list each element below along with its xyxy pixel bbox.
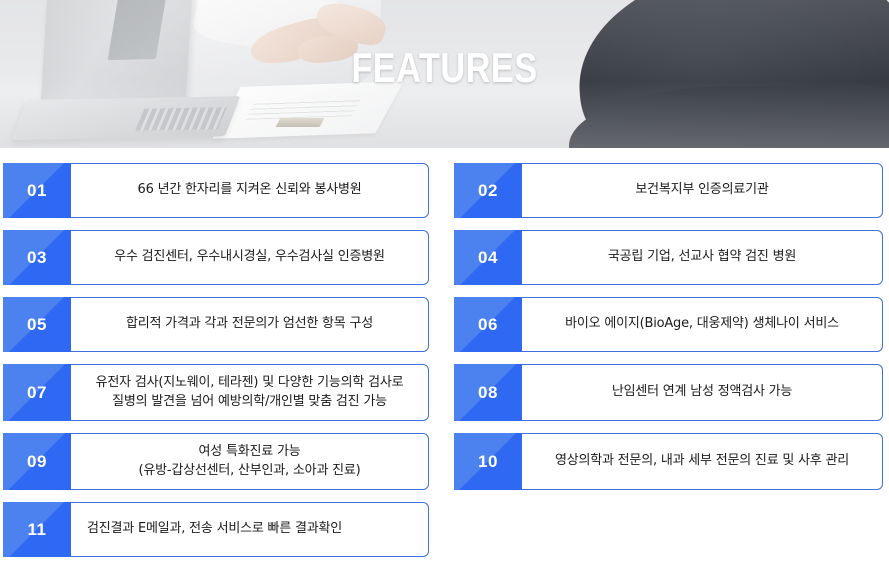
feature-text: 66 년간 한자리를 지켜온 신뢰와 봉사병원 — [138, 181, 362, 199]
feature-number: 11 — [28, 520, 47, 540]
feature-text: 보건복지부 인증의료기관 — [635, 181, 768, 199]
feature-item-06[interactable]: 06 바이오 에이지(BioAge, 대웅제약) 생체나이 서비스 — [454, 297, 883, 352]
feature-card: 바이오 에이지(BioAge, 대웅제약) 생체나이 서비스 — [522, 297, 883, 352]
feature-number-badge: 01 — [3, 163, 71, 218]
feature-text: 여성 특화진료 가능 (유방-갑상선센터, 산부인과, 소아과 진료) — [138, 443, 360, 480]
feature-number: 04 — [478, 248, 498, 268]
feature-text: 합리적 가격과 각과 전문의가 엄선한 항목 구성 — [126, 315, 373, 333]
feature-number: 06 — [478, 315, 498, 335]
feature-text: 우수 검진센터, 우수내시경실, 우수검사실 인증병원 — [114, 248, 385, 266]
feature-number: 01 — [27, 181, 47, 201]
features-banner: FEATURES — [0, 0, 889, 148]
feature-card: 합리적 가격과 각과 전문의가 엄선한 항목 구성 — [71, 297, 429, 352]
feature-number: 07 — [27, 383, 47, 403]
feature-number: 02 — [478, 181, 498, 201]
feature-item-02[interactable]: 02 보건복지부 인증의료기관 — [454, 163, 883, 218]
feature-text: 영상의학과 전문의, 내과 세부 전문의 진료 및 사후 관리 — [555, 452, 849, 470]
feature-card: 검진결과 E메일과, 전송 서비스로 빠른 결과확인 — [71, 502, 429, 557]
feature-item-05[interactable]: 05 합리적 가격과 각과 전문의가 엄선한 항목 구성 — [3, 297, 429, 352]
feature-number: 09 — [27, 452, 47, 472]
feature-item-08[interactable]: 08 난임센터 연계 남성 정액검사 가능 — [454, 364, 883, 421]
feature-number-badge: 03 — [3, 230, 71, 285]
feature-number-badge: 11 — [3, 502, 71, 557]
feature-number-badge: 04 — [454, 230, 522, 285]
feature-item-10[interactable]: 10 영상의학과 전문의, 내과 세부 전문의 진료 및 사후 관리 — [454, 433, 883, 490]
feature-item-11[interactable]: 11 검진결과 E메일과, 전송 서비스로 빠른 결과확인 — [3, 502, 429, 557]
feature-item-04[interactable]: 04 국공립 기업, 선교사 협약 검진 병원 — [454, 230, 883, 285]
feature-card: 영상의학과 전문의, 내과 세부 전문의 진료 및 사후 관리 — [522, 433, 883, 490]
feature-number: 05 — [27, 315, 47, 335]
feature-number-badge: 05 — [3, 297, 71, 352]
feature-card: 여성 특화진료 가능 (유방-갑상선센터, 산부인과, 소아과 진료) — [71, 433, 429, 490]
feature-text: 국공립 기업, 선교사 협약 검진 병원 — [608, 248, 796, 266]
feature-number: 10 — [478, 452, 498, 472]
feature-number-badge: 10 — [454, 433, 522, 490]
feature-card: 국공립 기업, 선교사 협약 검진 병원 — [522, 230, 883, 285]
feature-item-09[interactable]: 09 여성 특화진료 가능 (유방-갑상선센터, 산부인과, 소아과 진료) — [3, 433, 429, 490]
feature-number-badge: 08 — [454, 364, 522, 421]
feature-number-badge: 09 — [3, 433, 71, 490]
feature-number-badge: 06 — [454, 297, 522, 352]
feature-text: 바이오 에이지(BioAge, 대웅제약) 생체나이 서비스 — [565, 315, 839, 333]
features-column-left: 01 66 년간 한자리를 지켜온 신뢰와 봉사병원 03 우수 검진센터, 우… — [3, 163, 429, 569]
feature-number: 08 — [478, 383, 498, 403]
feature-card: 66 년간 한자리를 지켜온 신뢰와 봉사병원 — [71, 163, 429, 218]
feature-item-07[interactable]: 07 유전자 검사(지노웨이, 테라젠) 및 다양한 기능의학 검사로 질병의 … — [3, 364, 429, 421]
feature-item-01[interactable]: 01 66 년간 한자리를 지켜온 신뢰와 봉사병원 — [3, 163, 429, 218]
feature-number: 03 — [27, 248, 47, 268]
feature-text: 검진결과 E메일과, 전송 서비스로 빠른 결과확인 — [87, 520, 342, 538]
feature-number-badge: 07 — [3, 364, 71, 421]
feature-item-03[interactable]: 03 우수 검진센터, 우수내시경실, 우수검사실 인증병원 — [3, 230, 429, 285]
features-grid: 01 66 년간 한자리를 지켜온 신뢰와 봉사병원 03 우수 검진센터, 우… — [0, 148, 889, 163]
feature-number-badge: 02 — [454, 163, 522, 218]
feature-card: 유전자 검사(지노웨이, 테라젠) 및 다양한 기능의학 검사로 질병의 발견을… — [71, 364, 429, 421]
features-column-right: 02 보건복지부 인증의료기관 04 국공립 기업, 선교사 협약 검진 병원 … — [454, 163, 883, 502]
feature-card: 우수 검진센터, 우수내시경실, 우수검사실 인증병원 — [71, 230, 429, 285]
feature-text: 유전자 검사(지노웨이, 테라젠) 및 다양한 기능의학 검사로 질병의 발견을… — [96, 374, 404, 411]
feature-text: 난임센터 연계 남성 정액검사 가능 — [612, 383, 792, 401]
feature-card: 난임센터 연계 남성 정액검사 가능 — [522, 364, 883, 421]
page-title: FEATURES — [80, 47, 809, 89]
feature-card: 보건복지부 인증의료기관 — [522, 163, 883, 218]
